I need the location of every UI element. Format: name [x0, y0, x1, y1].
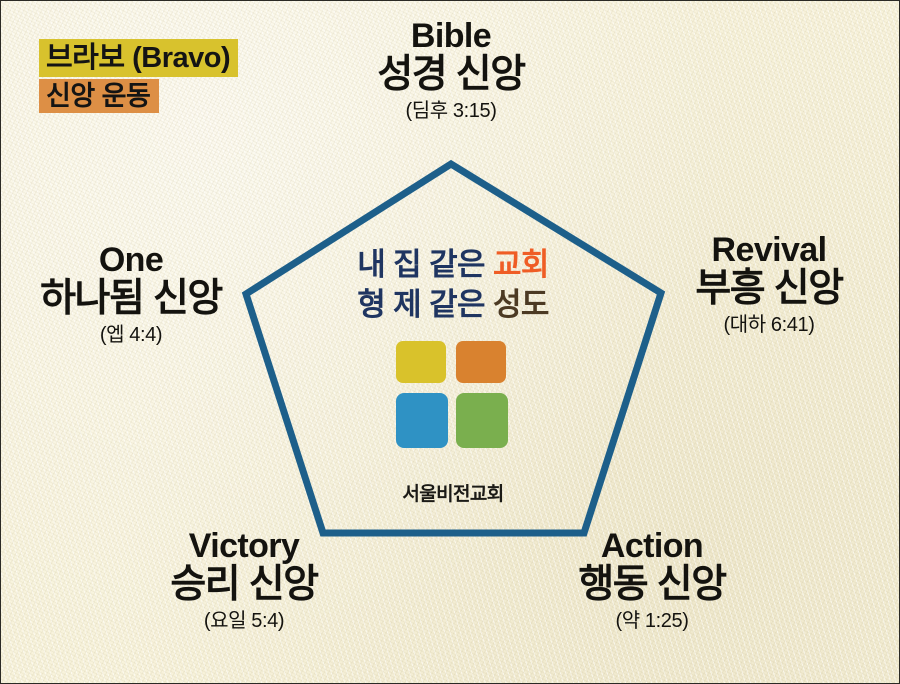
vertex-one-reference: (엡 4:4) [40, 325, 222, 345]
slide-canvas: 브라보 (Bravo) 신앙 운동 Bible 성경 신앙 (딤후 3:15) … [0, 0, 900, 684]
badge-bravo-title: 브라보 (Bravo) [39, 39, 238, 77]
church-name-label: 서울비전교회 [402, 479, 503, 506]
vertex-revival-english: Revival [695, 233, 842, 268]
center-slogan-line-2: 형 제 같은 성도 [293, 285, 613, 325]
vertex-label-action: Action 행동 신앙 (약 1:25) [578, 529, 725, 632]
vertex-revival-reference: (대하 6:41) [695, 315, 842, 335]
vertex-revival-korean: 부흥 신앙 [695, 269, 842, 309]
center-line1-accent: 교회 [493, 247, 549, 282]
vertex-action-english: Action [578, 529, 725, 564]
vertex-bible-reference: (딤후 3:15) [377, 101, 524, 121]
vertex-label-bible: Bible 성경 신앙 (딤후 3:15) [377, 19, 524, 122]
logo-square-bottom-left-icon [396, 393, 448, 448]
vertex-label-revival: Revival 부흥 신앙 (대하 6:41) [695, 233, 842, 336]
vertex-action-reference: (약 1:25) [578, 611, 725, 631]
logo-square-top-left-icon [396, 341, 446, 383]
badge-movement-subtitle: 신앙 운동 [39, 79, 159, 113]
church-logo-icon [396, 341, 508, 448]
vertex-one-korean: 하나됨 신앙 [40, 279, 222, 319]
logo-square-bottom-right-icon [456, 393, 508, 448]
vertex-action-korean: 행동 신앙 [578, 565, 725, 605]
center-slogan-line-1: 내 집 같은 교회 [293, 245, 613, 285]
vertex-label-one: One 하나됨 신앙 (엡 4:4) [40, 243, 222, 346]
center-line2-prefix: 형 제 같은 [357, 287, 493, 322]
vertex-label-victory: Victory 승리 신앙 (요일 5:4) [170, 529, 317, 632]
vertex-bible-english: Bible [377, 19, 524, 54]
center-slogan: 내 집 같은 교회 형 제 같은 성도 [293, 245, 613, 324]
center-line1-prefix: 내 집 같은 [357, 247, 493, 282]
logo-square-top-right-icon [456, 341, 506, 383]
vertex-victory-korean: 승리 신앙 [170, 565, 317, 605]
center-line2-accent: 성도 [493, 287, 549, 322]
vertex-one-english: One [40, 243, 222, 278]
vertex-bible-korean: 성경 신앙 [377, 55, 524, 95]
vertex-victory-english: Victory [170, 529, 317, 564]
vertex-victory-reference: (요일 5:4) [170, 611, 317, 631]
